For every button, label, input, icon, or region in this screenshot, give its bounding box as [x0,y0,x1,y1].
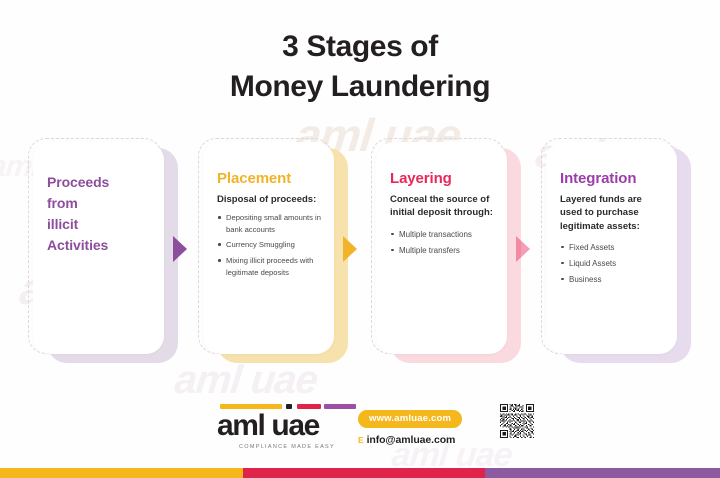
list-item: Liquid Assets [560,258,665,270]
logo-bar-dot [286,404,292,409]
stage-card-integration: Integration Layered funds are used to pu… [546,142,686,364]
stage-card-proceeds: Proceeds from illicit Activities [33,142,173,364]
infographic-canvas: aml uae aml uae aml uae aml uae aml uae … [0,0,720,478]
list-item: Multiple transactions [390,229,495,241]
logo-wordmark: aml uae [217,411,357,441]
email-address[interactable]: info@amluae.com [367,434,456,446]
logo-color-bars [217,404,357,410]
website-link[interactable]: www.amluae.com [358,410,462,428]
logo-bar-yellow [220,404,282,409]
card-body: Proceeds from illicit Activities [33,142,164,354]
card-title: Placement [217,168,322,189]
arrow-right-icon [516,236,532,262]
bottom-bar-segment-red [243,468,484,478]
email-icon: E [358,435,364,445]
card-subtitle: Disposal of proceeds: [217,193,322,206]
list-item: Business [560,274,665,286]
page-title: 3 Stages of Money Laundering [0,27,720,106]
title-line-1: 3 Stages of [282,30,438,63]
bottom-bar-segment-yellow [0,468,243,478]
card-body: Integration Layered funds are used to pu… [546,142,677,354]
stage-card-layering: Layering Conceal the source of initial d… [376,142,516,364]
bottom-color-bar [0,468,720,478]
card-title: Integration [560,168,665,189]
card-subtitle: Layered funds are used to purchase legit… [560,193,665,232]
card-body: Placement Disposal of proceeds: Depositi… [203,142,334,354]
card-bullet-list: Fixed Assets Liquid Assets Business [560,242,665,286]
list-item: Fixed Assets [560,242,665,254]
contact-block: www.amluae.com Einfo@amluae.com [358,408,498,446]
footer: aml uae COMPLIANCE MADE EASY www.amluae.… [0,396,720,458]
arrow-right-icon [343,236,359,262]
email-row[interactable]: Einfo@amluae.com [358,434,498,446]
list-item: Currency Smuggling [217,239,322,251]
arrow-right-icon [173,236,189,262]
list-item: Mixing illicit proceeds with legitimate … [217,255,322,278]
list-item: Multiple transfers [390,245,495,257]
logo-bar-red [297,404,321,409]
title-line-2: Money Laundering [0,67,720,107]
logo-bar-purple [324,404,356,409]
card-title: Proceeds from illicit Activities [47,172,152,256]
brand-logo: aml uae COMPLIANCE MADE EASY [217,404,357,450]
card-bullet-list: Multiple transactions Multiple transfers [390,229,495,257]
bottom-bar-segment-purple [485,468,720,478]
card-title: Layering [390,168,495,189]
card-body: Layering Conceal the source of initial d… [376,142,507,354]
card-bullet-list: Depositing small amounts in bank account… [217,212,322,278]
card-subtitle: Conceal the source of initial deposit th… [390,193,495,219]
qr-code-icon [500,404,534,438]
stage-card-placement: Placement Disposal of proceeds: Depositi… [203,142,343,364]
logo-tagline: COMPLIANCE MADE EASY [217,444,357,450]
list-item: Depositing small amounts in bank account… [217,212,322,235]
stage-cards-row: Proceeds from illicit Activities Placeme… [0,142,720,372]
